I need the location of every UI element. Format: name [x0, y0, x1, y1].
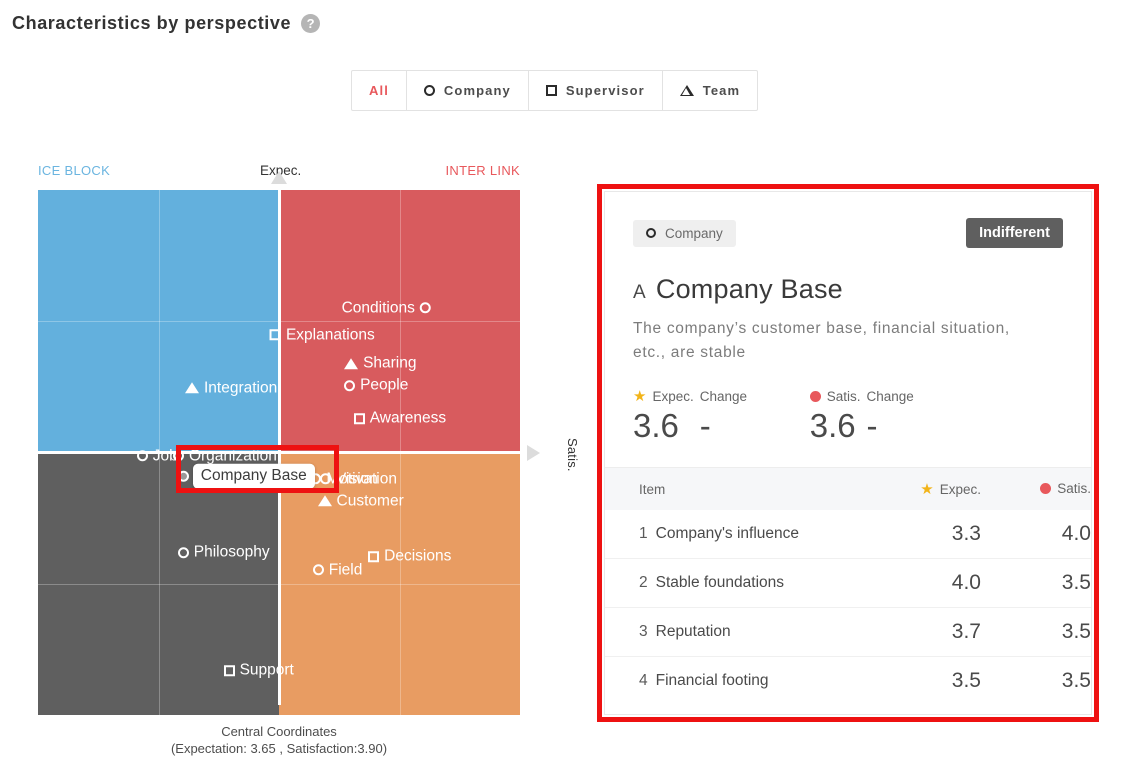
metric-expectation: ★ Expec. 3.6 Change - [633, 387, 810, 445]
row-number: 4 [639, 672, 648, 689]
square-icon [354, 413, 365, 424]
data-point-organization[interactable]: Organization [173, 448, 277, 464]
row-satis-value: 3.5 [981, 608, 1091, 657]
row-expec-value: 3.3 [863, 510, 981, 559]
data-point-label: Vision [336, 471, 378, 487]
row-expec-value: 4.0 [863, 559, 981, 608]
data-point-explanations[interactable]: Explanations [270, 327, 375, 343]
square-icon [546, 85, 557, 96]
row-satis-value: 4.0 [981, 510, 1091, 559]
row-number: 3 [639, 623, 648, 640]
circle-icon [424, 85, 435, 96]
tab-all[interactable]: All [352, 71, 407, 110]
data-point-conditions[interactable]: Conditions [342, 300, 431, 316]
corner-label-top-right: INTER LINK [445, 163, 520, 178]
data-point-job[interactable]: Job [137, 448, 178, 464]
row-number: 1 [639, 525, 648, 542]
metric-satisfaction-change-col: Change - [867, 387, 971, 445]
metric-expectation-change-label: Change [700, 389, 747, 404]
metric-satisfaction: Satis. 3.6 Change - [810, 387, 977, 445]
table-row[interactable]: 1Company's influence 3.3 4.0 [605, 510, 1091, 559]
metric-satisfaction-change-value: - [867, 407, 971, 445]
data-point-people[interactable]: People [344, 378, 408, 394]
data-point-label: Customer [337, 493, 404, 509]
metric-expectation-change-label-wrap: Change [700, 387, 804, 405]
data-point-label: Decisions [384, 549, 451, 565]
column-header-item: Item [605, 468, 863, 510]
triangle-icon [318, 495, 332, 506]
table-row[interactable]: 3Reputation 3.7 3.5 [605, 608, 1091, 657]
table-header-row: Item ★ Expec. Satis. [605, 468, 1091, 510]
row-item-cell: 3Reputation [605, 608, 863, 657]
tab-all-label: All [369, 83, 389, 98]
detail-description: The company’s customer base, financial s… [633, 317, 1033, 365]
dot-icon [810, 391, 821, 402]
column-header-satis: Satis. [981, 468, 1091, 510]
circle-icon [320, 473, 331, 484]
row-item-label: Financial footing [656, 672, 769, 689]
metric-expectation-change-value: - [700, 407, 804, 445]
characteristic-detail-panel: Company Indifferent A Company Base The c… [604, 191, 1092, 715]
triangle-icon [185, 382, 199, 393]
metric-satisfaction-change-label: Change [867, 389, 914, 404]
row-expec-value: 3.7 [863, 608, 981, 657]
circle-icon [178, 547, 189, 558]
detail-panel-header: Company Indifferent A Company Base The c… [605, 192, 1091, 365]
square-icon [270, 329, 281, 340]
detail-rank: A [633, 282, 646, 304]
data-point-integration[interactable]: Integration [185, 380, 277, 396]
corner-label-top-left: ICE BLOCK [38, 163, 110, 178]
central-coordinates: Central Coordinates (Expectation: 3.65 ,… [38, 723, 520, 757]
data-point-support[interactable]: Support [224, 663, 294, 679]
square-icon [224, 665, 235, 676]
metric-satisfaction-head: Satis. [810, 387, 861, 405]
axis-label-satisfaction: Satis. [565, 438, 580, 472]
central-coordinates-values: (Expectation: 3.65 , Satisfaction:3.90) [38, 740, 520, 757]
tab-team-label: Team [703, 83, 740, 98]
metric-expectation-value: 3.6 [633, 407, 694, 445]
data-point-label: Organization [189, 448, 277, 464]
circle-icon [646, 228, 656, 238]
data-point-field[interactable]: Field [313, 562, 363, 578]
dot-icon [1040, 483, 1051, 494]
data-point-label: Sharing [363, 356, 416, 372]
data-point-customer[interactable]: Customer [318, 493, 404, 509]
data-point-sharing[interactable]: Sharing [344, 356, 416, 372]
data-point-vision[interactable]: Vision [320, 471, 378, 487]
row-number: 2 [639, 574, 648, 591]
data-point-label: People [360, 378, 408, 394]
matrix-plot-area[interactable]: Conditions Explanations Sharing People A… [38, 190, 520, 715]
perspective-badge: Company [633, 220, 736, 247]
circle-icon [137, 451, 148, 462]
metric-satisfaction-label: Satis. [827, 389, 861, 404]
metric-expectation-head: ★ Expec. [633, 387, 694, 405]
row-item-cell: 2Stable foundations [605, 559, 863, 608]
row-satis-value: 3.5 [981, 657, 1091, 706]
tab-supervisor[interactable]: Supervisor [529, 71, 663, 110]
row-item-cell: 4Financial footing [605, 657, 863, 706]
central-coordinates-title: Central Coordinates [38, 723, 520, 740]
axis-horizontal [38, 451, 532, 454]
row-item-cell: 1Company's influence [605, 510, 863, 559]
detail-metrics: ★ Expec. 3.6 Change - Satis. 3.6 [605, 387, 1091, 468]
metric-satisfaction-change-label-wrap: Change [867, 387, 971, 405]
metric-satisfaction-value: 3.6 [810, 407, 861, 445]
status-badge[interactable]: Indifferent [966, 218, 1063, 248]
circle-icon [420, 303, 431, 314]
square-icon [368, 551, 379, 562]
tab-company[interactable]: Company [407, 71, 529, 110]
tab-team[interactable]: Team [663, 71, 757, 110]
perspective-tab-group: All Company Supervisor Team [351, 70, 758, 111]
tab-supervisor-label: Supervisor [566, 83, 645, 98]
metric-expectation-label: Expec. [652, 389, 693, 404]
data-point-label: Conditions [342, 300, 415, 316]
table-row[interactable]: 4Financial footing 3.5 3.5 [605, 657, 1091, 706]
detail-title-row: A Company Base [633, 274, 1063, 305]
row-item-label: Stable foundations [656, 574, 784, 591]
data-point-label: Integration [204, 380, 277, 396]
page-header: Characteristics by perspective ? [12, 13, 320, 34]
star-icon: ★ [920, 482, 933, 497]
triangle-icon [344, 358, 358, 369]
row-expec-value: 3.5 [863, 657, 981, 706]
circle-icon [344, 380, 355, 391]
perspective-badge-label: Company [665, 226, 723, 241]
data-point-label: Field [329, 562, 363, 578]
characteristics-matrix-chart: ICE BLOCK INTER LINK INK BLOT IDLE LINE … [38, 163, 538, 743]
table-row[interactable]: 2Stable foundations 4.0 3.5 [605, 559, 1091, 608]
tooltip-label: Company Base [193, 464, 315, 489]
column-header-expec-label: Expec. [940, 482, 981, 497]
circle-icon [178, 471, 189, 482]
data-point-philosophy[interactable]: Philosophy [178, 545, 270, 561]
data-point-company-base-tooltip[interactable]: Company Base [178, 464, 315, 489]
row-item-label: Company's influence [656, 525, 799, 542]
row-item-label: Reputation [656, 623, 731, 640]
column-header-satis-label: Satis. [1057, 481, 1091, 496]
circle-icon [313, 564, 324, 575]
detail-title: Company Base [656, 274, 843, 305]
detail-items-table: Item ★ Expec. Satis. 1Compan [605, 468, 1091, 705]
data-point-label: Explanations [286, 327, 375, 343]
triangle-icon [680, 85, 694, 96]
metric-expectation-value-col: ★ Expec. 3.6 [633, 387, 694, 445]
help-icon[interactable]: ? [301, 14, 320, 33]
circle-icon [173, 451, 184, 462]
data-point-label: Support [240, 663, 294, 679]
page-title: Characteristics by perspective [12, 13, 291, 34]
axis-arrow-right-icon [527, 445, 540, 461]
metric-expectation-change-col: Change - [700, 387, 804, 445]
tab-company-label: Company [444, 83, 511, 98]
axis-vertical [278, 180, 281, 705]
data-point-label: Philosophy [194, 545, 270, 561]
metric-satisfaction-value-col: Satis. 3.6 [810, 387, 861, 445]
row-satis-value: 3.5 [981, 559, 1091, 608]
column-header-expec: ★ Expec. [863, 468, 981, 510]
detail-badge-row: Company Indifferent [633, 218, 1063, 248]
data-point-label: Awareness [370, 411, 446, 427]
data-point-awareness[interactable]: Awareness [354, 411, 446, 427]
star-icon: ★ [633, 389, 646, 404]
axis-arrow-up-icon [271, 171, 287, 184]
data-point-decisions[interactable]: Decisions [368, 549, 451, 565]
